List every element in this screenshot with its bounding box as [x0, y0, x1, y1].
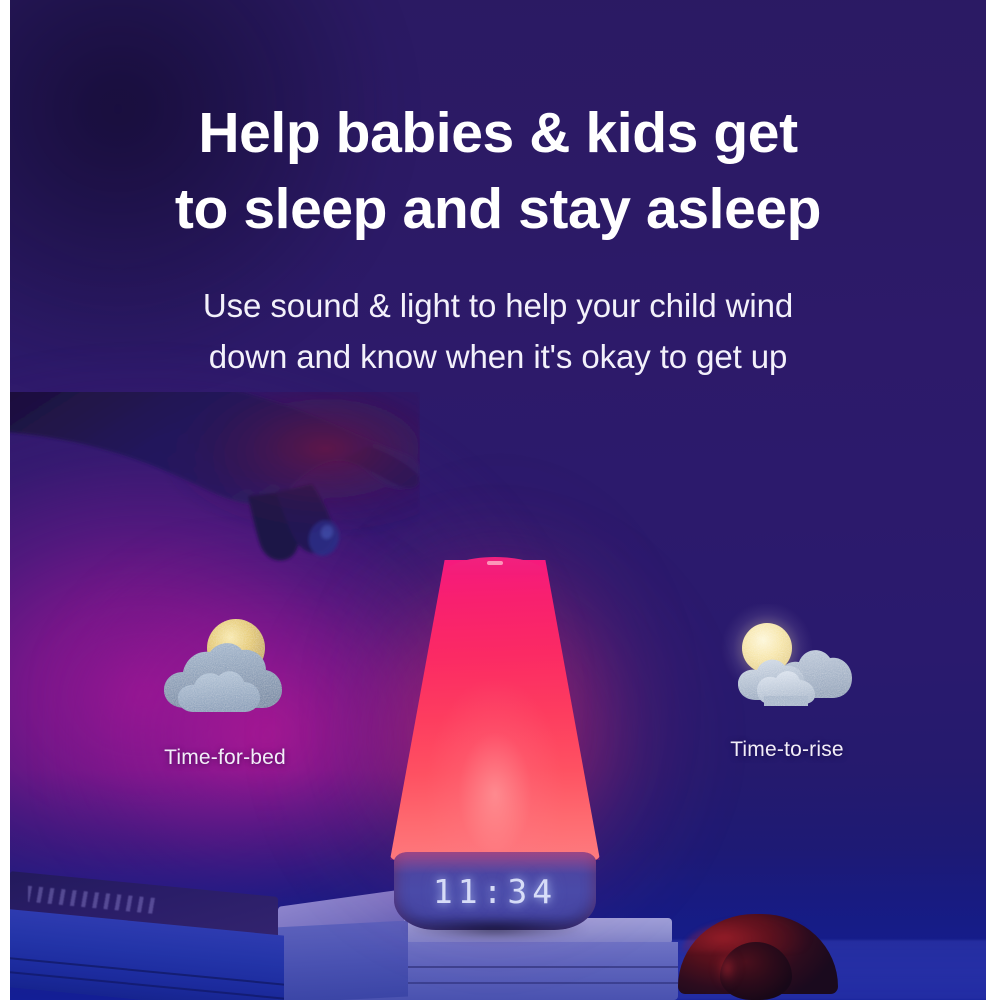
lamp-shade-highlight [390, 560, 600, 860]
product-scene: Help babies & kids get to sleep and stay… [10, 0, 986, 1000]
page-title: Help babies & kids get to sleep and stay… [10, 0, 986, 248]
subhead-line-2: down and know when it's okay to get up [10, 331, 986, 382]
headline-line-1: Help babies & kids get [10, 96, 986, 172]
lamp-contact-shadow [402, 918, 588, 940]
mode-label-time-to-rise: Time-to-rise [682, 738, 892, 762]
copy-block: Help babies & kids get to sleep and stay… [10, 0, 986, 382]
promo-image: Help babies & kids get to sleep and stay… [0, 0, 1000, 1000]
mode-time-to-rise[interactable]: Time-to-rise [682, 604, 892, 762]
subhead-line-1: Use sound & light to help your child win… [10, 280, 986, 331]
clock-display: 11:34 [390, 872, 600, 911]
night-light-sound-machine[interactable]: 11:34 [390, 560, 600, 930]
red-toy [678, 914, 838, 1000]
left-margin [0, 0, 10, 1000]
mode-time-for-bed[interactable]: Time-for-bed [120, 612, 330, 770]
right-margin [986, 0, 1000, 1000]
mode-label-time-for-bed: Time-for-bed [120, 746, 330, 770]
book-small-front [274, 920, 408, 1000]
toy-glint [712, 946, 742, 990]
book-stack-left [10, 884, 294, 1000]
lamp-base-highlight [394, 852, 596, 874]
lamp-top-cap [444, 557, 546, 575]
page-subtitle: Use sound & light to help your child win… [10, 248, 986, 382]
lamp-top-notch [487, 561, 503, 565]
moon-behind-cloud-icon [150, 612, 300, 732]
sun-behind-cloud-icon [712, 604, 862, 724]
headline-line-2: to sleep and stay asleep [10, 172, 986, 248]
